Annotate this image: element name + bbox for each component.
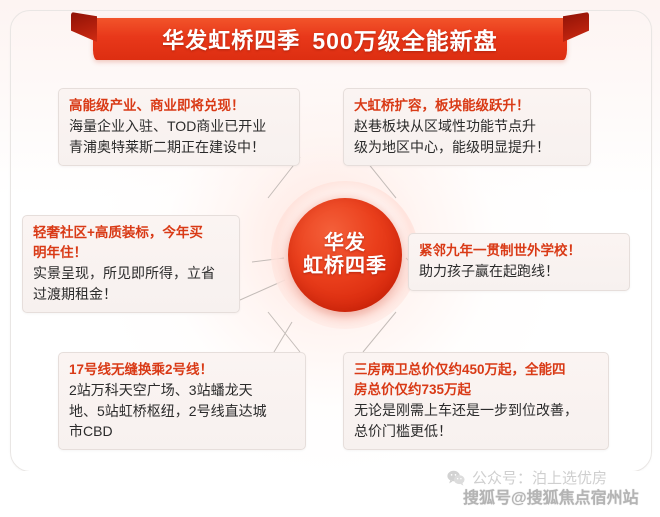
callout-hongqiao-headline: 大虹桥扩容，板块能级跃升！ [354,96,580,115]
callout-price-body-1: 无论是刚需上车还是一步到位改善， [354,400,598,420]
callout-school-body-1: 助力孩子赢在起跑线！ [419,261,619,281]
callout-community-headline-2: 明年住！ [33,243,229,262]
callout-metro-body-1: 2站万科天空广场、3站蟠龙天 [69,380,295,400]
callout-metro: 17号线无缝换乘2号线！ 2站万科天空广场、3站蟠龙天 地、5站虹桥枢纽，2号线… [58,352,306,450]
poster-canvas: 华发 虹桥四季 华发虹桥四季 500万级全能新盘 高能级产业、商业即将兑现！ 海… [0,0,660,517]
callout-price-body-2: 总价门槛更低！ [354,421,598,441]
callout-price: 三房两卫总价仅约450万起，全能四 房总价仅约735万起 无论是刚需上车还是一步… [343,352,609,450]
callout-hongqiao-body-1: 赵巷板块从区域性功能节点升 [354,116,580,136]
callout-school: 紧邻九年一贯制世外学校！ 助力孩子赢在起跑线！ [408,233,630,291]
callout-industry-headline: 高能级产业、商业即将兑现！ [69,96,289,115]
callout-price-headline-2: 房总价仅约735万起 [354,380,598,399]
callout-hongqiao-body-2: 级为地区中心，能级明显提升！ [354,137,580,157]
banner-title-right: 500万级全能新盘 [312,22,497,56]
banner-title-left: 华发虹桥四季 [162,23,300,55]
callout-metro-headline: 17号线无缝换乘2号线！ [69,360,295,379]
callout-industry-body-1: 海量企业入驻、TOD商业已开业 [69,116,289,136]
callout-community: 轻奢社区+高质装标，今年买 明年住！ 实景呈现，所见即所得，立省 过渡期租金！ [22,215,240,313]
callout-industry-body-2: 青浦奥特莱斯二期正在建设中！ [69,137,289,157]
center-logo-circle: 华发 虹桥四季 [288,198,402,312]
callout-community-body-1: 实景呈现，所见即所得，立省 [33,263,229,283]
callout-school-headline: 紧邻九年一贯制世外学校！ [419,241,619,260]
callout-metro-body-3: 市CBD [69,421,295,441]
callout-hongqiao: 大虹桥扩容，板块能级跃升！ 赵巷板块从区域性功能节点升 级为地区中心，能级明显提… [343,88,591,166]
callout-metro-body-2: 地、5站虹桥枢纽，2号线直达城 [69,401,295,421]
callout-community-headline-1: 轻奢社区+高质装标，今年买 [33,223,229,242]
center-logo-line2: 虹桥四季 [303,255,387,278]
callout-industry: 高能级产业、商业即将兑现！ 海量企业入驻、TOD商业已开业 青浦奥特莱斯二期正在… [58,88,300,166]
callout-community-body-2: 过渡期租金！ [33,284,229,304]
banner-text: 华发虹桥四季 500万级全能新盘 [93,18,567,60]
center-logo-line1: 华发 [324,232,366,255]
sohu-watermark-text: 搜狐号@搜狐焦点宿州站 [463,484,639,508]
banner-ribbon: 华发虹桥四季 500万级全能新盘 [93,18,567,60]
callout-price-headline-1: 三房两卫总价仅约450万起，全能四 [354,360,598,379]
